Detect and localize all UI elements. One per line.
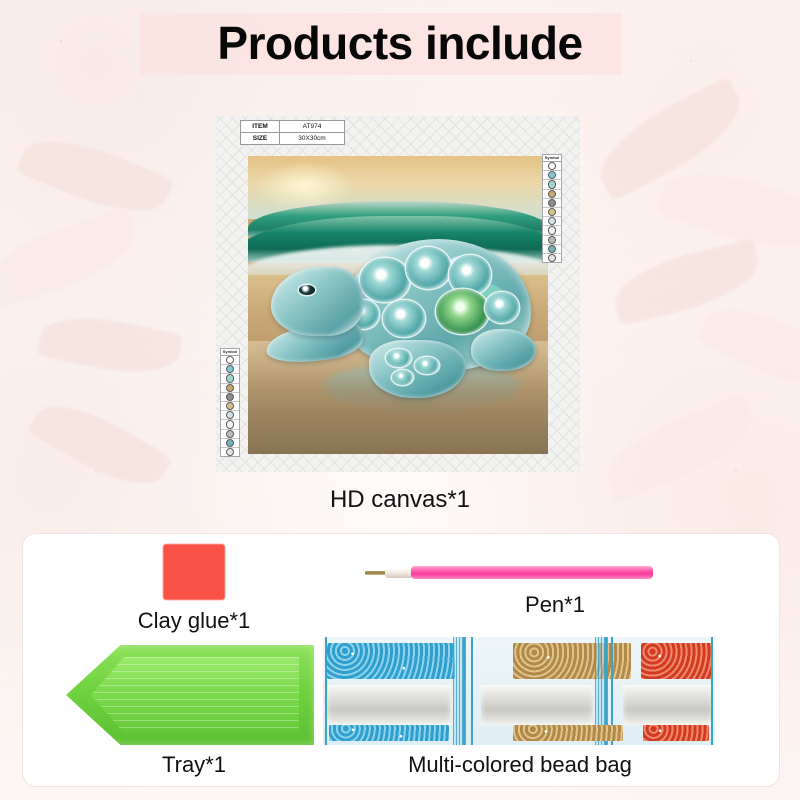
symbol-swatch-icon [548,245,556,253]
legend-row [221,365,239,374]
legend-row [543,254,561,262]
legend-row [221,402,239,411]
shell-scute [383,300,425,337]
symbol-swatch-icon [226,430,234,438]
symbol-swatch-icon [548,208,556,216]
spec-key-item: ITEM [241,121,280,133]
legend-row [221,356,239,365]
spec-row-size: SIZE 30X30cm [241,133,345,145]
symbol-swatch-icon [226,411,234,419]
symbol-swatch-icon [226,393,234,401]
caption-hd-canvas: HD canvas*1 [0,486,800,514]
clay-glue-image [163,544,225,600]
legend-header: Symbol [543,155,561,162]
symbol-swatch-icon [548,171,556,179]
symbol-swatch-icon [548,199,556,207]
canvas-spec-table: ITEM AT974 SIZE 30X30cm [240,120,345,145]
beads-blue [329,725,449,741]
flipper-scute [415,357,438,373]
shell-scute [485,292,519,324]
legend-row [221,374,239,383]
pen-body [411,566,653,579]
spec-value-item: AT974 [280,121,345,133]
product-include-infographic: Products include [0,0,800,800]
shell-scute [406,247,451,289]
legend-row [221,420,239,429]
legend-row [543,208,561,217]
symbol-swatch-icon [226,356,234,364]
symbol-swatch-icon [548,162,556,170]
flipper-scute [392,370,413,385]
legend-row [543,171,561,180]
symbol-swatch-icon [548,217,556,225]
artwork-turtle [266,239,536,412]
tray-image [66,645,314,745]
legend-row [543,162,561,171]
background-speck [140,95,142,97]
tray-grooves [91,657,299,733]
legend-row [543,245,561,254]
symbol-legend-right: Symbol [542,154,562,263]
legend-row [543,180,561,189]
legend-row [221,384,239,393]
symbol-swatch-icon [548,180,556,188]
legend-row [543,226,561,235]
beads-gold [513,725,623,741]
background-speck [735,470,737,472]
symbol-swatch-icon [226,420,234,428]
symbol-swatch-icon [548,236,556,244]
shell-scute [360,258,409,303]
legend-header: Symbol [221,349,239,356]
symbol-swatch-icon [226,439,234,447]
legend-row [221,393,239,402]
legend-row [221,430,239,439]
symbol-legend-left: Symbol [220,348,240,457]
turtle-rear-flipper [471,329,536,370]
legend-row [221,411,239,420]
spec-key-size: SIZE [241,133,280,145]
symbol-swatch-icon [226,448,234,456]
pen-metal-tip [365,571,387,575]
spec-row-item: ITEM AT974 [241,121,345,133]
symbol-swatch-icon [548,254,556,262]
symbol-swatch-icon [548,226,556,234]
caption-pen: Pen*1 [455,592,655,618]
canvas-artwork [248,156,548,454]
symbol-swatch-icon [226,374,234,382]
background-speck [95,470,97,472]
legend-row [221,439,239,448]
symbol-swatch-icon [226,365,234,373]
turtle-eye [299,285,315,295]
caption-bead-bag: Multi-colored bead bag [330,752,710,778]
symbol-swatch-icon [548,190,556,198]
beads-red [643,725,709,741]
symbol-swatch-icon [226,384,234,392]
pen-image [365,565,653,583]
spec-value-size: 30X30cm [280,133,345,145]
legend-row [543,190,561,199]
legend-row [543,199,561,208]
page-title: Products include [0,16,800,70]
flipper-scute [386,349,411,367]
shell-scute-green [436,289,489,334]
caption-tray: Tray*1 [60,752,328,778]
legend-row [543,236,561,245]
legend-row [543,217,561,226]
symbol-swatch-icon [226,402,234,410]
hd-canvas-image: ITEM AT974 SIZE 30X30cm Symbol Sym [216,116,580,472]
legend-row [221,448,239,456]
caption-clay-glue: Clay glue*1 [60,608,328,634]
bead-row-bottom [323,725,715,741]
turtle-head [271,267,363,336]
bead-bag-image [323,637,715,745]
